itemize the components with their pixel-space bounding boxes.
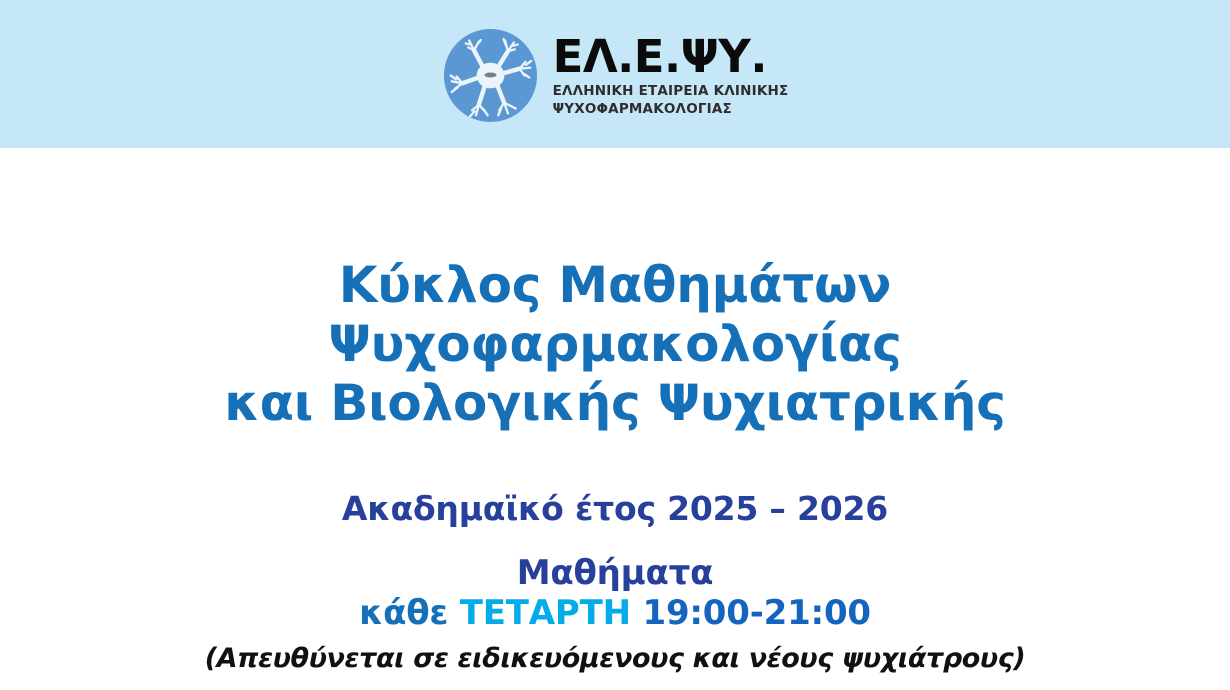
logo-subtitle-line2: ΨΥΧΟΦΑΡΜΑΚΟΛΟΓΙΑΣ [553, 101, 732, 117]
organization-logo: ΕΛ.Ε.ΨΥ. ΕΛΛΗΝΙΚΗ ΕΤΑΙΡΕΙΑ ΚΛΙΝΙΚΗΣ ΨΥΧΟ… [0, 0, 1230, 148]
logo-subtitle-line1: ΕΛΛΗΝΙΚΗ ΕΤΑΙΡΕΙΑ ΚΛΙΝΙΚΗΣ [553, 83, 789, 99]
schedule-day: ΤΕΤΑΡΤΗ [460, 593, 631, 633]
neuron-icon [442, 27, 539, 124]
page-title: Κύκλος Μαθημάτων Ψυχοφαρμακολογίας και Β… [0, 256, 1230, 433]
title-line-2: Ψυχοφαρμακολογίας [0, 315, 1230, 374]
audience-note: (Απευθύνεται σε ειδικευόμενους και νέους… [0, 642, 1230, 676]
title-line-1: Κύκλος Μαθημάτων [0, 256, 1230, 315]
schedule-time: 19:00-21:00 [643, 593, 871, 633]
slide-body: Κύκλος Μαθημάτων Ψυχοφαρμακολογίας και Β… [0, 148, 1230, 690]
schedule-frequency: κάθε [359, 593, 448, 633]
presentation-slide: ΕΛ.Ε.ΨΥ. ΕΛΛΗΝΙΚΗ ΕΤΑΙΡΕΙΑ ΚΛΙΝΙΚΗΣ ΨΥΧΟ… [0, 0, 1230, 690]
logo-wordmark: ΕΛ.Ε.ΨΥ. ΕΛΛΗΝΙΚΗ ΕΤΑΙΡΕΙΑ ΚΛΙΝΙΚΗΣ ΨΥΧΟ… [553, 33, 789, 117]
logo-acronym: ΕΛ.Ε.ΨΥ. [553, 33, 767, 81]
lessons-label: Μαθήματα [0, 552, 1230, 594]
title-line-3: και Βιολογικής Ψυχιατρικής [0, 374, 1230, 433]
academic-year-label: Ακαδημαϊκό έτος 2025 – 2026 [0, 489, 1230, 529]
schedule-line: κάθε ΤΕΤΑΡΤΗ 19:00-21:00 [0, 592, 1230, 634]
